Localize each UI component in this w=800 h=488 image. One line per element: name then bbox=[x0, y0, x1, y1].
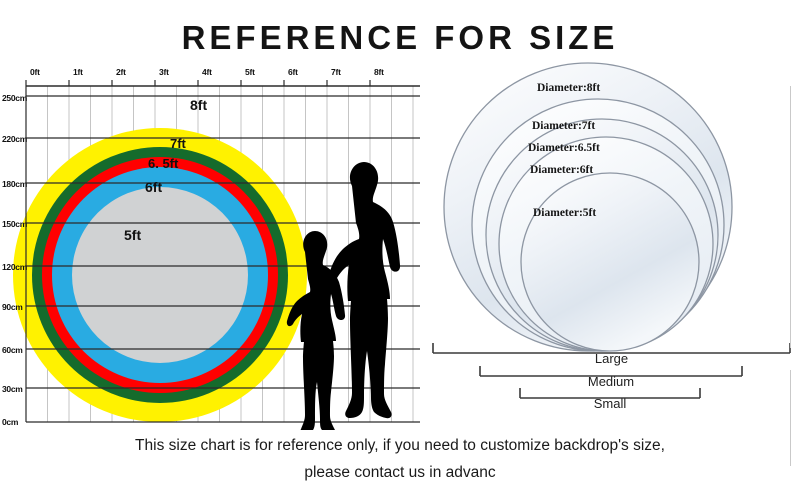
disc-diameter-panel: Diameter:8ft Diameter:7ft Diameter:6.5ft… bbox=[420, 55, 800, 435]
height-comparison-chart: 250cm 220cm 180cm 150cm 120cm 90cm 60cm … bbox=[0, 60, 440, 430]
x-axis-ticks bbox=[26, 80, 370, 86]
height-chart-svg bbox=[0, 60, 440, 430]
circle-5ft bbox=[72, 187, 248, 363]
arc-label-6ft: 6ft bbox=[145, 180, 162, 194]
right-edge-rule-top bbox=[790, 86, 791, 348]
arc-label-8ft: 8ft bbox=[190, 98, 207, 112]
y-tick-180cm: 180cm bbox=[2, 180, 27, 189]
x-tick-5ft: 5ft bbox=[245, 68, 255, 77]
bracket-label-large: Large bbox=[433, 352, 790, 366]
x-tick-3ft: 3ft bbox=[159, 68, 169, 77]
x-tick-0ft: 0ft bbox=[30, 68, 40, 77]
y-tick-0cm: 0cm bbox=[2, 418, 18, 427]
x-tick-6ft: 6ft bbox=[288, 68, 298, 77]
y-tick-120cm: 120cm bbox=[2, 263, 27, 272]
arc-label-6.5ft: 6. 5ft bbox=[148, 157, 178, 171]
x-tick-2ft: 2ft bbox=[116, 68, 126, 77]
x-tick-4ft: 4ft bbox=[202, 68, 212, 77]
disc-label-6ft: Diameter:6ft bbox=[530, 164, 593, 176]
y-tick-220cm: 220cm bbox=[2, 135, 27, 144]
page-title: REFERENCE FOR SIZE bbox=[0, 18, 800, 58]
y-tick-250cm: 250cm bbox=[2, 94, 27, 103]
disc-label-5ft: Diameter:5ft bbox=[533, 207, 596, 219]
disclaimer: This size chart is for reference only, i… bbox=[0, 432, 800, 486]
x-tick-7ft: 7ft bbox=[331, 68, 341, 77]
y-tick-150cm: 150cm bbox=[2, 220, 27, 229]
disc-label-8ft: Diameter:8ft bbox=[537, 82, 600, 94]
y-tick-30cm: 30cm bbox=[2, 385, 23, 394]
x-tick-1ft: 1ft bbox=[73, 68, 83, 77]
arc-label-7ft: 7ft bbox=[170, 137, 186, 151]
disclaimer-line-1: This size chart is for reference only, i… bbox=[0, 432, 800, 459]
y-tick-60cm: 60cm bbox=[2, 346, 23, 355]
disc-5ft bbox=[521, 173, 699, 351]
y-tick-90cm: 90cm bbox=[2, 303, 23, 312]
disc-label-7ft: Diameter:7ft bbox=[532, 120, 595, 132]
disc-label-6.5ft: Diameter:6.5ft bbox=[528, 142, 600, 154]
disclaimer-line-2: please contact us in advanc bbox=[0, 459, 800, 486]
arc-label-5ft: 5ft bbox=[124, 228, 141, 242]
size-reference-chart: REFERENCE FOR SIZE bbox=[0, 0, 800, 488]
x-tick-8ft: 8ft bbox=[374, 68, 384, 77]
bracket-label-small: Small bbox=[520, 397, 700, 411]
bracket-label-medium: Medium bbox=[480, 375, 742, 389]
size-circles bbox=[13, 128, 307, 422]
